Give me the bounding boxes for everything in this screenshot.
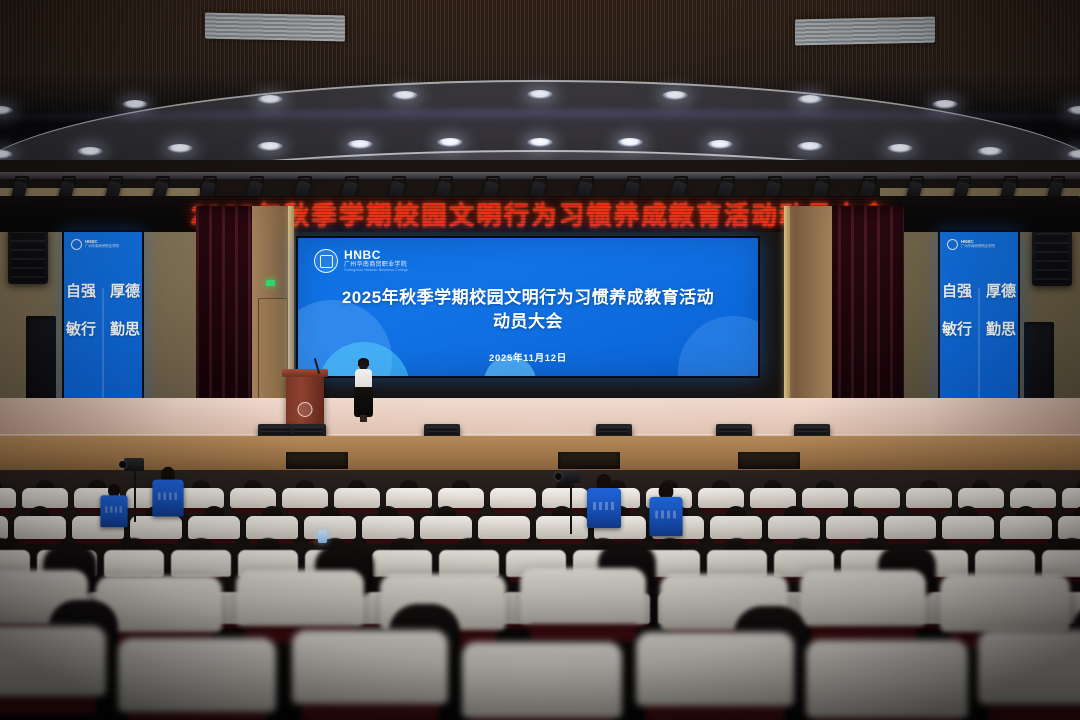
ceiling-downlight — [122, 100, 148, 109]
foreground-seat — [118, 638, 276, 712]
auditorium-seat — [178, 488, 224, 508]
side-school-logo: HNBC 广州华南商贸职业学院 — [947, 239, 995, 250]
auditorium-seat — [750, 488, 796, 508]
auditorium-seat — [490, 488, 536, 508]
foreground-seat — [806, 640, 968, 718]
crew-blue-vest — [100, 495, 127, 527]
podium-top — [282, 369, 328, 377]
auditorium-seat — [0, 488, 16, 508]
camera-crew-member — [648, 483, 683, 542]
seal-inner-mark — [320, 255, 333, 268]
camera-tripod — [134, 470, 136, 522]
ceiling-downlight — [527, 90, 553, 99]
side-led-screen-right: HNBC 广州华南商贸职业学院 自强 敏行 厚德 勤思 — [938, 230, 1020, 426]
camera-lens-icon — [119, 461, 126, 468]
side-logo-cn: 广州华南商贸职业学院 — [961, 245, 995, 249]
ceiling-downlight — [0, 106, 13, 115]
video-camera — [124, 458, 144, 471]
ceiling-downlight — [257, 142, 283, 151]
auditorium-photo: 2025年秋季学期校园文明行为习惯养成教育活动动员大会 HNBC 广州华南商贸职… — [0, 0, 1080, 720]
crew-blue-vest — [649, 497, 682, 536]
auditorium-seat — [420, 516, 472, 539]
school-seal-icon — [947, 239, 958, 250]
auditorium-seat — [768, 516, 820, 539]
camera-crew-member — [151, 467, 184, 522]
screen-title-line1: 2025年秋季学期校园文明行为习惯养成教育活动 — [342, 288, 714, 307]
line-array-speaker-right — [1032, 230, 1072, 286]
wall-panel-right — [1024, 322, 1054, 408]
auditorium-seat — [710, 516, 762, 539]
camera-crew-member — [586, 474, 622, 534]
side-school-logo: HNBC 广州华南商贸职业学院 — [71, 239, 119, 250]
auditorium-seat — [230, 488, 276, 508]
auditorium-seat — [188, 516, 240, 539]
presenter-top — [355, 369, 372, 389]
auditorium-seat — [372, 550, 432, 577]
auditorium-seat — [246, 516, 298, 539]
auditorium-seat — [826, 516, 878, 539]
motto-column-left: 自强 敏行 — [942, 284, 972, 338]
camera-lens-icon — [555, 473, 562, 480]
ceiling-downlight — [347, 140, 373, 149]
motto-column-right: 厚德 勤思 — [986, 284, 1016, 338]
apron-vent — [558, 452, 620, 469]
auditorium-seat — [698, 488, 744, 508]
auditorium-seat — [1010, 488, 1056, 508]
auditorium-seat — [1062, 488, 1080, 508]
motto-word: 勤思 — [986, 322, 1016, 338]
crew-blue-vest — [152, 480, 183, 517]
main-led-screen: HNBC 广州华南商贸职业学院 Guangzhou Huanan Busines… — [296, 236, 760, 378]
led-banner: 2025年秋季学期校园文明行为习惯养成教育活动动员大会 — [0, 196, 1080, 232]
auditorium-seat — [942, 516, 994, 539]
logo-text-block: HNBC 广州华南商贸职业学院 Guangzhou Huanan Busines… — [344, 249, 408, 272]
auditorium-seat — [282, 488, 328, 508]
foreground-seat — [0, 626, 106, 696]
ceiling-vent-right — [795, 17, 935, 46]
auditorium-seat — [707, 550, 767, 577]
motto-grid-right-screen: 自强 敏行 厚德 勤思 — [940, 284, 1018, 338]
ceiling-downlight — [932, 100, 958, 109]
led-banner-text: 2025年秋季学期校园文明行为习惯养成教育活动动员大会 — [0, 196, 1080, 232]
auditorium-seat — [1058, 516, 1080, 539]
motto-word: 自强 — [942, 284, 972, 300]
video-camera — [560, 470, 580, 483]
auditorium-seat — [304, 516, 356, 539]
auditorium-seat — [14, 516, 66, 539]
ceiling-downlight — [527, 138, 553, 147]
line-array-speaker-left — [8, 228, 48, 284]
auditorium-seat — [478, 516, 530, 539]
ceiling-downlight — [707, 140, 733, 149]
motto-word: 厚德 — [986, 284, 1016, 300]
ceiling-downlight — [797, 142, 823, 151]
auditorium-seat — [386, 488, 432, 508]
presenter-skirt — [354, 387, 373, 417]
auditorium-seat — [1000, 516, 1052, 539]
screen-title: 2025年秋季学期校园文明行为习惯养成教育活动 动员大会 — [332, 286, 724, 334]
screen-title-line2: 动员大会 — [332, 310, 724, 334]
school-seal-icon — [71, 239, 82, 250]
auditorium-seat — [22, 488, 68, 508]
motto-column-left: 自强 敏行 — [66, 284, 96, 338]
auditorium-seat — [171, 550, 231, 577]
foreground-seat — [520, 568, 646, 624]
presenter-legs — [360, 415, 367, 422]
wall-panel-left — [26, 316, 56, 402]
auditorium-seat — [334, 488, 380, 508]
foreground-seat — [940, 574, 1070, 632]
ceiling-downlight — [1067, 106, 1080, 115]
auditorium-seat — [854, 488, 900, 508]
motto-word: 敏行 — [942, 322, 972, 338]
ceiling-downlight — [77, 147, 103, 156]
auditorium-seat — [884, 516, 936, 539]
side-logo-cn: 广州华南商贸职业学院 — [85, 245, 119, 249]
side-logo-text: HNBC 广州华南商贸职业学院 — [961, 240, 995, 248]
auditorium-seat — [802, 488, 848, 508]
camera-crew-member — [100, 484, 129, 532]
foreground-seat — [978, 630, 1080, 704]
audience-house — [0, 470, 1080, 720]
foreground-seat — [800, 570, 926, 626]
auditorium-seat — [439, 550, 499, 577]
presenter-person — [353, 360, 373, 422]
ceiling-downlight — [887, 144, 913, 153]
ceiling-downlight — [1067, 150, 1080, 159]
exit-indicator-icon — [266, 280, 275, 286]
ceiling-downlight — [0, 150, 13, 159]
auditorium-seat — [542, 488, 588, 508]
auditorium-seat — [1042, 550, 1080, 577]
phone-screen-glow — [318, 530, 327, 543]
logo-abbreviation: HNBC — [344, 249, 408, 262]
motto-word: 自强 — [66, 284, 96, 300]
motto-column-right: 厚德 勤思 — [110, 284, 140, 338]
foreground-seat — [236, 570, 364, 626]
auditorium-seat — [104, 550, 164, 577]
crew-blue-vest — [587, 488, 621, 528]
auditorium-seat — [975, 550, 1035, 577]
apron-vent — [738, 452, 800, 469]
auditorium-seat — [0, 516, 8, 539]
camera-tripod — [570, 482, 572, 534]
motto-word: 敏行 — [66, 322, 96, 338]
ceiling-downlight — [977, 147, 1003, 156]
school-seal-icon — [314, 249, 338, 273]
ceiling-downlight-row-upper — [0, 106, 1080, 122]
auditorium-seat — [536, 516, 588, 539]
apron-vent — [286, 452, 348, 469]
motto-grid-left-screen: 自强 敏行 厚德 勤思 — [64, 284, 142, 338]
ceiling-vent-left — [205, 13, 345, 42]
side-led-screen-left: HNBC 广州华南商贸职业学院 自强 敏行 厚德 勤思 — [62, 230, 144, 426]
ceiling-downlight — [257, 95, 283, 104]
foreground-seat — [462, 642, 622, 718]
auditorium-seat — [362, 516, 414, 539]
ceiling-downlight — [797, 95, 823, 104]
foreground-seat — [636, 632, 794, 706]
side-logo-text: HNBC 广州华南商贸职业学院 — [85, 240, 119, 248]
auditorium-seat — [438, 488, 484, 508]
ceiling-downlight — [167, 144, 193, 153]
auditorium-seat — [958, 488, 1004, 508]
auditorium-seat — [906, 488, 952, 508]
motto-word: 勤思 — [110, 322, 140, 338]
stage-pillar-right — [790, 206, 832, 428]
school-logo: HNBC 广州华南商贸职业学院 Guangzhou Huanan Busines… — [314, 249, 408, 273]
motto-word: 厚德 — [110, 284, 140, 300]
podium-school-emblem — [298, 402, 313, 417]
foreground-seat — [292, 630, 448, 704]
logo-name-en: Guangzhou Huanan Business College — [344, 269, 408, 273]
